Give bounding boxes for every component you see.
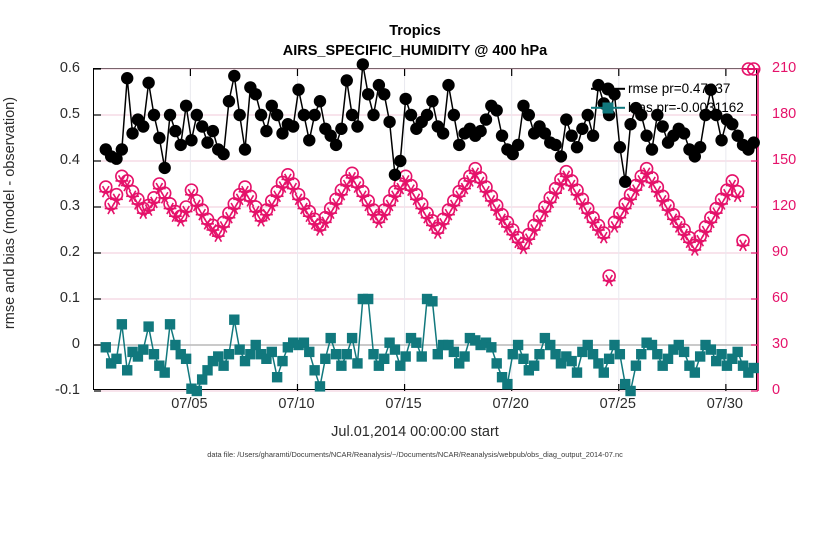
legend-label-bias: bias pr=-0.0031162 <box>628 100 744 115</box>
x-tick-label: 07/15 <box>385 396 421 412</box>
x-axis-labels: 07/0507/1007/1507/2007/2507/30 <box>0 396 830 416</box>
chart-legend: rmse pr=0.47037 bias pr=-0.0031162 <box>588 76 749 120</box>
legend-marker-rmse <box>591 82 625 96</box>
x-tick-label: 07/20 <box>493 396 529 412</box>
chart-title-block: Tropics AIRS_SPECIFIC_HUMIDITY @ 400 hPa <box>0 22 830 62</box>
y-tick-label-right: 30 <box>772 336 788 352</box>
page-title: Tropics <box>0 22 830 41</box>
y-tick-label-right: 150 <box>772 152 796 168</box>
y-tick-label-right: 120 <box>772 198 796 214</box>
x-tick-label: 07/05 <box>171 396 207 412</box>
y-tick-label-right: 90 <box>772 244 788 260</box>
legend-label-rmse: rmse pr=0.47037 <box>628 81 730 96</box>
x-axis-title: Jul.01,2014 00:00:00 start <box>0 424 830 440</box>
x-tick-label: 07/25 <box>600 396 636 412</box>
y-tick-label-right: 180 <box>772 106 796 122</box>
chart-page: Tropics AIRS_SPECIFIC_HUMIDITY @ 400 hPa… <box>0 0 830 470</box>
legend-marker-bias <box>591 101 625 115</box>
data-file-footer: data file: /Users/gharamti/Documents/NCA… <box>0 450 830 459</box>
legend-item-rmse[interactable]: rmse pr=0.47037 <box>591 79 744 98</box>
x-tick-label: 07/30 <box>707 396 743 412</box>
y-tick-label-right: 210 <box>772 60 796 76</box>
y-tick-label-right: 60 <box>772 290 788 306</box>
chart-subtitle: AIRS_SPECIFIC_HUMIDITY @ 400 hPa <box>0 41 830 62</box>
legend-item-bias[interactable]: bias pr=-0.0031162 <box>591 98 744 117</box>
x-tick-label: 07/10 <box>278 396 314 412</box>
